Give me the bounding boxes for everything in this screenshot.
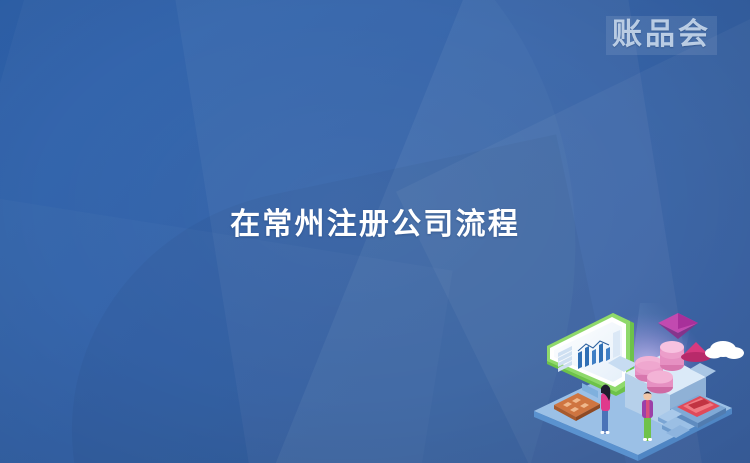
cloud-icon <box>705 341 744 359</box>
page-title: 在常州注册公司流程 <box>0 206 750 244</box>
screen-panel <box>613 330 620 358</box>
site-watermark: 账品会 <box>606 16 717 55</box>
hero-illustration <box>520 295 750 463</box>
cover-banner: 账品会 在常州注册公司流程 <box>0 0 750 463</box>
